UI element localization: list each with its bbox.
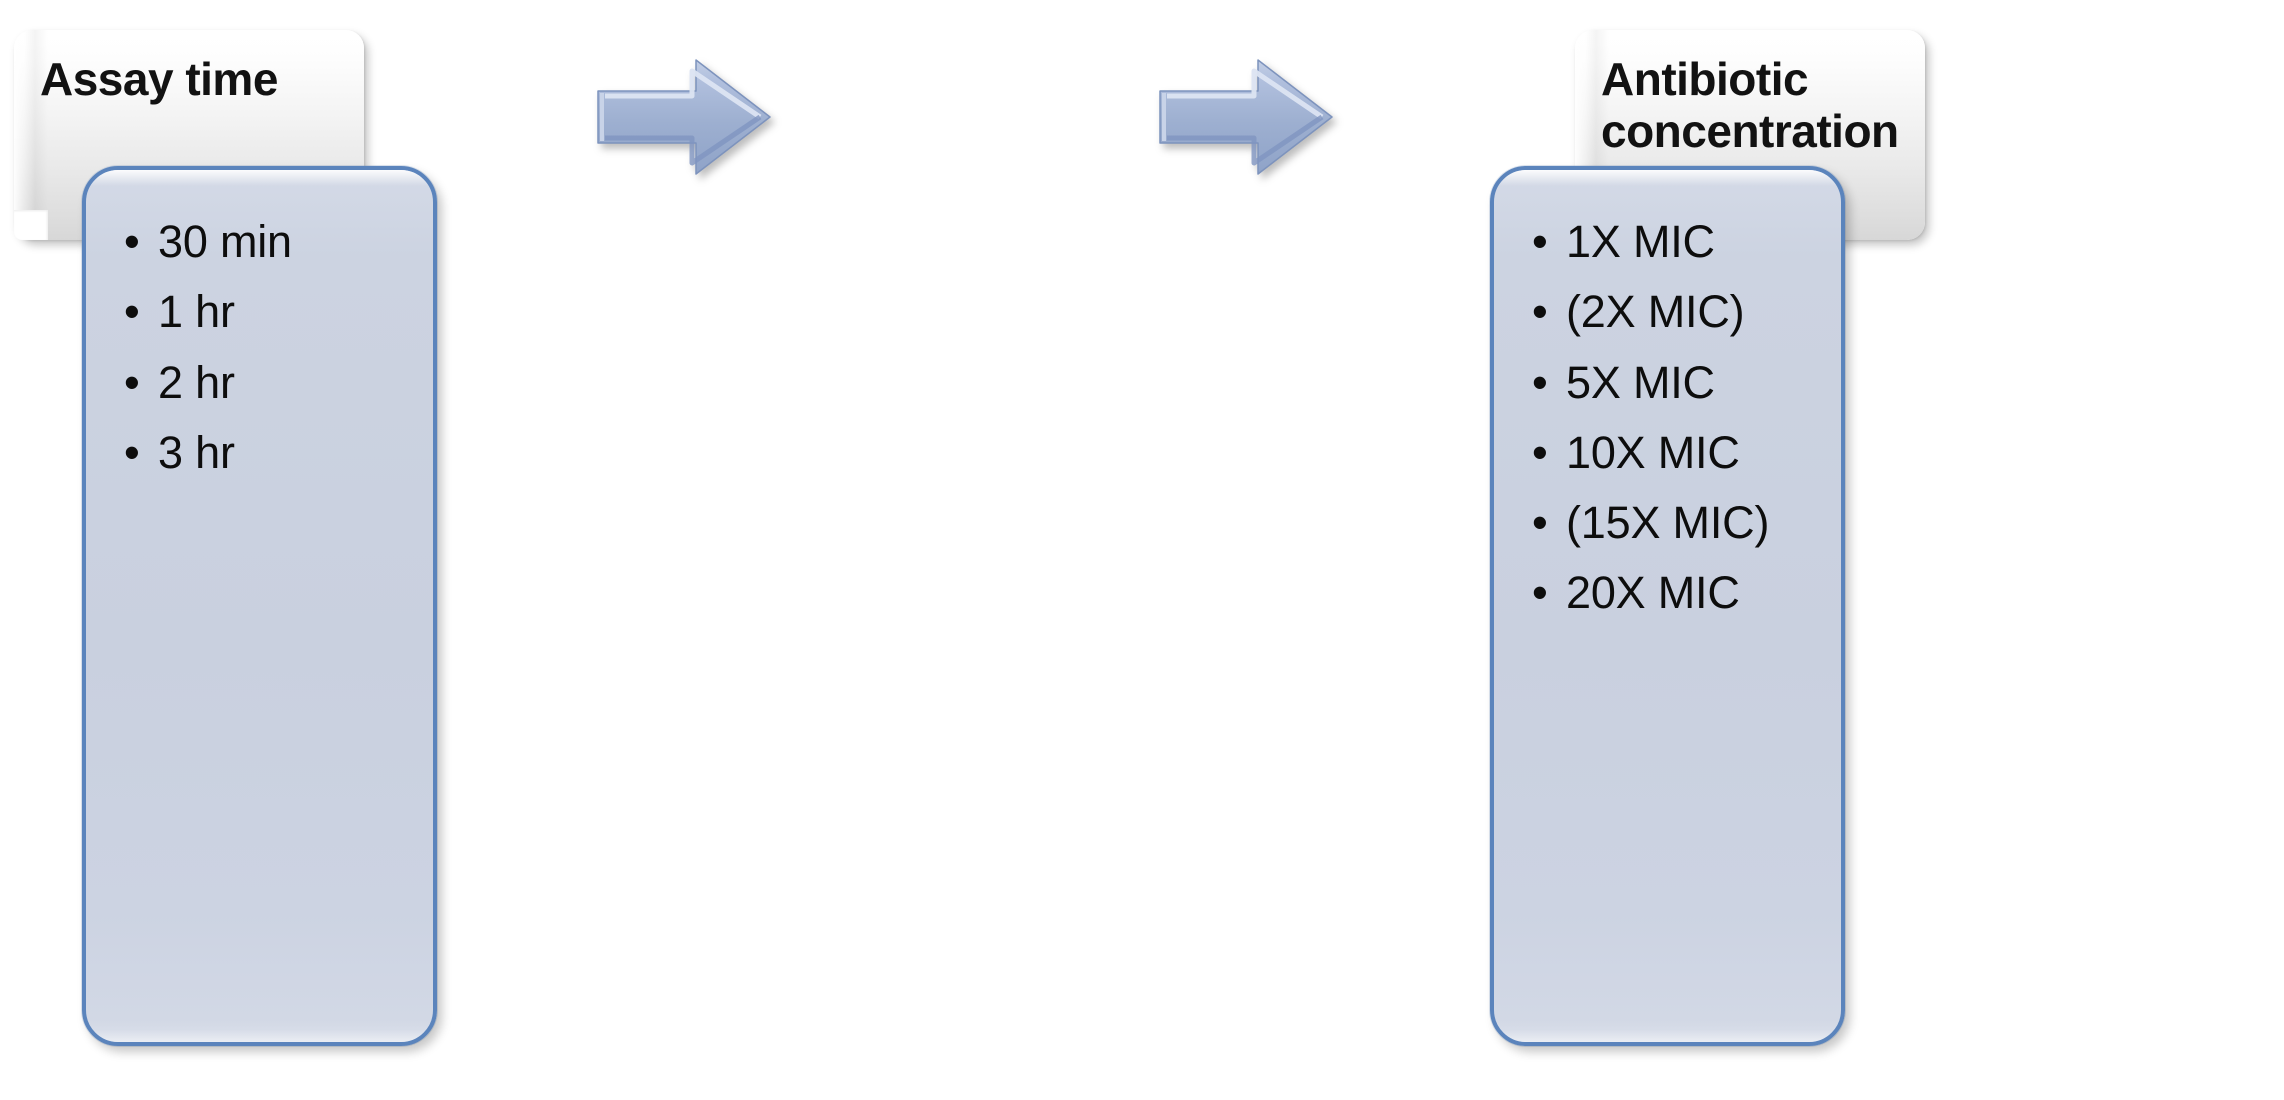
list-item: •1 hr <box>124 284 423 340</box>
bullet-icon: • <box>1532 214 1548 270</box>
step-content-panel-2[interactable]: •1X MIC •(2X MIC) •5X MIC •10X MIC •(15X… <box>1490 166 1845 1046</box>
list-item-label: 1X MIC <box>1566 216 1715 267</box>
list-item: •10X MIC <box>1532 425 1831 481</box>
list-item: •30 min <box>124 214 423 270</box>
list-item-label: 10X MIC <box>1566 427 1740 478</box>
list-item: •3 hr <box>124 425 423 481</box>
list-item: •2 hr <box>124 355 423 411</box>
card-fold-corner-1 <box>14 210 48 240</box>
list-item-label: 30 min <box>158 216 292 267</box>
step-bullet-list-2: •1X MIC •(2X MIC) •5X MIC •10X MIC •(15X… <box>1494 170 1841 622</box>
right-arrow-icon-step2-to-step3 <box>1158 58 1334 181</box>
bullet-icon: • <box>124 355 140 411</box>
flow-step-assay-time: Assay time •30 min •1 hr •2 hr •3 hr <box>0 0 640 1100</box>
step-title-2: Antibiotic concentration <box>1575 30 1925 157</box>
list-item: •1X MIC <box>1532 214 1831 270</box>
list-item-label: (2X MIC) <box>1566 286 1744 337</box>
list-item: •(2X MIC) <box>1532 284 1831 340</box>
list-item-label: 2 hr <box>158 357 235 408</box>
list-item-label: 5X MIC <box>1566 357 1715 408</box>
bullet-icon: • <box>1532 425 1548 481</box>
list-item: •(15X MIC) <box>1532 495 1831 551</box>
list-item: •20X MIC <box>1532 565 1831 621</box>
list-item-label: 3 hr <box>158 427 235 478</box>
bullet-icon: • <box>1532 355 1548 411</box>
list-item-label: 20X MIC <box>1566 567 1740 618</box>
list-item-label: (15X MIC) <box>1566 497 1769 548</box>
diagram-canvas: Assay time •30 min •1 hr •2 hr •3 hr <box>0 0 2284 1100</box>
bullet-icon: • <box>124 425 140 481</box>
bullet-icon: • <box>124 214 140 270</box>
bullet-icon: • <box>1532 495 1548 551</box>
list-item-label: 1 hr <box>158 286 235 337</box>
step-title-1: Assay time <box>14 30 364 106</box>
bullet-icon: • <box>1532 284 1548 340</box>
step-bullet-list-1: •30 min •1 hr •2 hr •3 hr <box>86 170 433 481</box>
bullet-icon: • <box>124 284 140 340</box>
bullet-icon: • <box>1532 565 1548 621</box>
right-arrow-icon-step1-to-step2 <box>596 58 772 181</box>
step-content-panel-1[interactable]: •30 min •1 hr •2 hr •3 hr <box>82 166 437 1046</box>
list-item: •5X MIC <box>1532 355 1831 411</box>
